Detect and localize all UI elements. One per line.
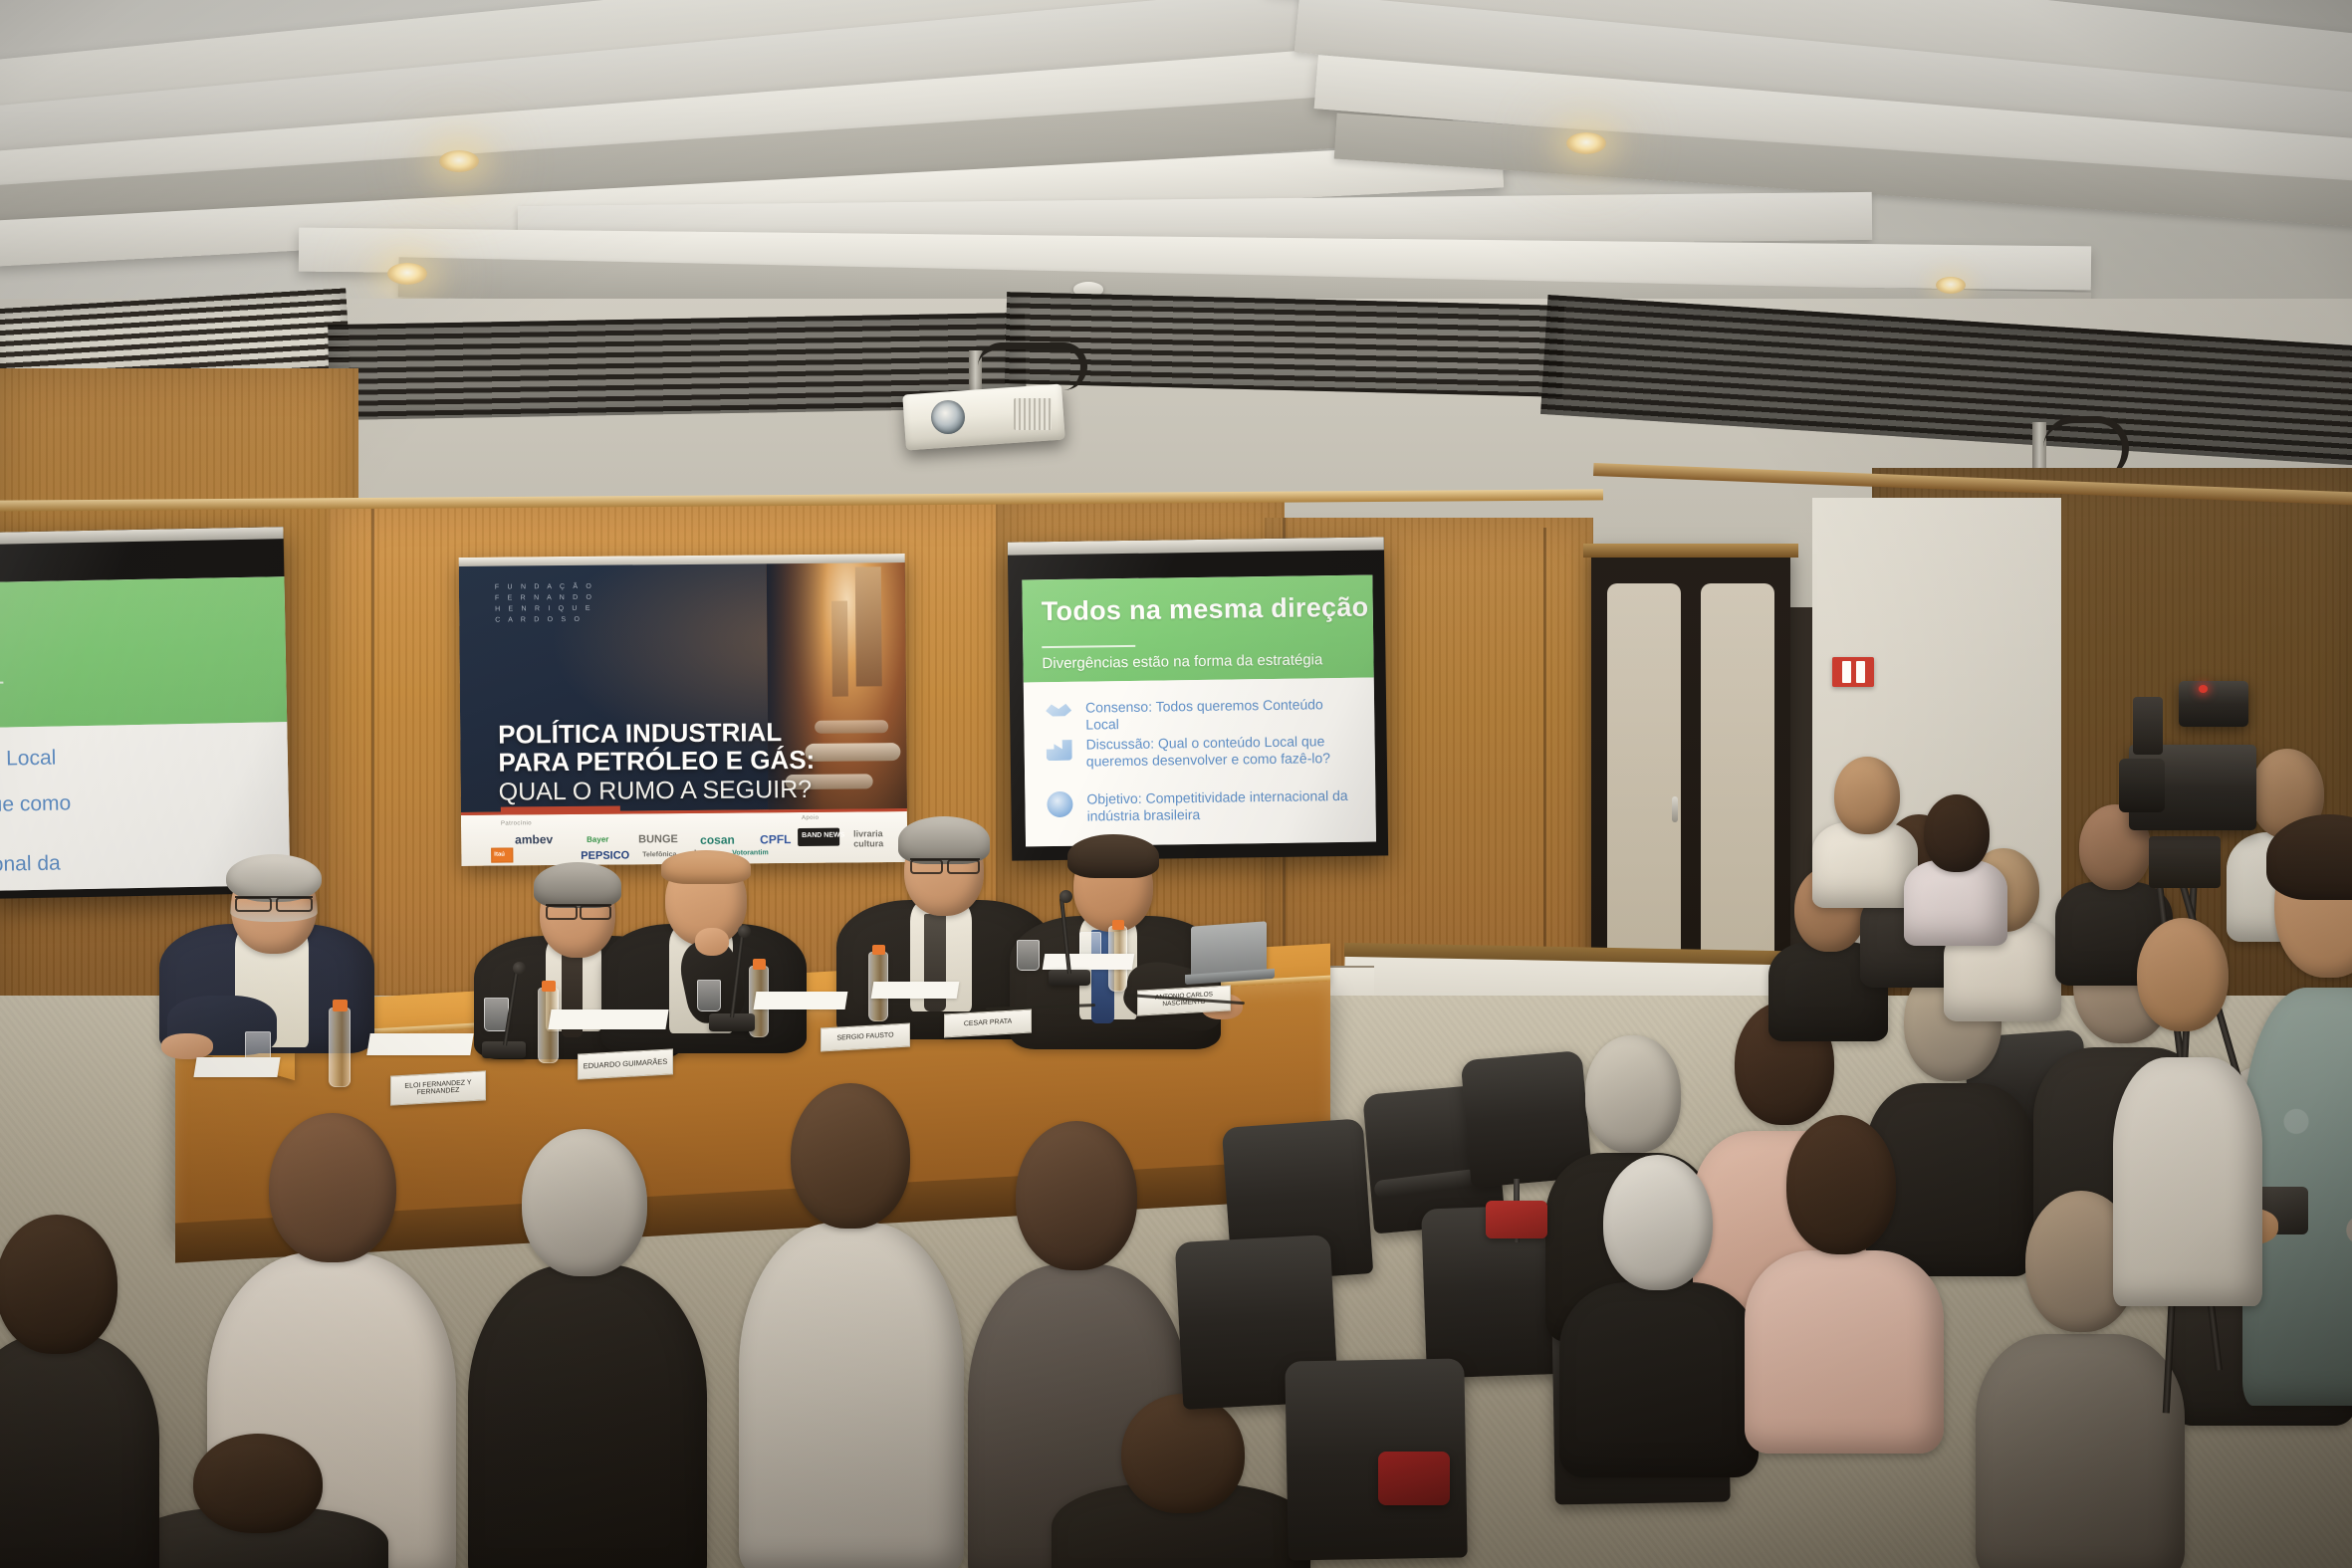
event-banner: F U N D A Ç Ã O F E R N A N D O H E N R … — [459, 554, 908, 866]
audience-member-mid-grey — [1559, 1151, 1759, 1450]
fundacao-fhc-logo: F U N D A Ç Ã O F E R N A N D O H E N R … — [495, 582, 594, 626]
paper-document[interactable] — [366, 1033, 473, 1055]
camera-tally-light — [2199, 685, 2208, 693]
logo-line: F U N D A Ç Ã O — [495, 582, 594, 594]
audience-member-back-5 — [1812, 757, 1918, 896]
refinery-tower — [831, 601, 848, 697]
slide-bullet: Consenso: Todos queremos Conteúdo Local — [1046, 696, 1360, 733]
audience-b6-top — [1904, 860, 2007, 946]
panelist-3-bald-crown — [661, 850, 751, 884]
slide-bullet-text: Discussão: Qual o conteúdo Local que que… — [1086, 733, 1361, 770]
audience-3-head — [791, 1083, 910, 1229]
slide-bullet-text: Objetivo: Competitividade internacional … — [1086, 787, 1361, 824]
slide-bullet: Objetivo: Competitividade internacional … — [1047, 787, 1361, 824]
ceiling-downlight — [387, 263, 427, 285]
panelist-4-glasses — [910, 858, 980, 870]
door-handle[interactable] — [1672, 796, 1678, 822]
exit-glyph-icon — [1856, 661, 1865, 683]
refinery-pipe — [805, 743, 900, 762]
sponsor-logo-ambev: ambev — [515, 832, 553, 846]
logo-line: F E R N A N D O — [495, 593, 594, 605]
audience-member-mid-pink — [1745, 1113, 1944, 1432]
slide-header-band: Todos na mesma direção Divergências estã… — [1022, 575, 1373, 683]
crew2-head — [2137, 918, 2229, 1031]
audience-member-foreground-3 — [739, 1077, 964, 1565]
slide-bullet-fragment: do Local que como fazê-lo? — [0, 791, 94, 844]
audience-member-foreground-5 — [1052, 1394, 1310, 1568]
audience-7-jacket — [0, 1334, 159, 1568]
bottle-cap — [542, 981, 556, 992]
door-panel-left — [1607, 583, 1681, 954]
audience-mg-jacket — [1559, 1282, 1759, 1477]
panelist-5-hair — [1067, 834, 1159, 878]
slide-bullet: Discussão: Qual o conteúdo Local que que… — [1047, 733, 1361, 770]
refinery-tower — [855, 566, 882, 686]
bottle-cap — [333, 1000, 348, 1011]
panelist-1-hair — [226, 854, 322, 902]
sponsor-label: Patrocínio — [501, 820, 532, 826]
nameplate-1: ELOI FERNANDEZ Y FERNANDEZ — [390, 1070, 486, 1105]
banner-title-line-2: PARA PETRÓLEO E GÁS: — [498, 746, 815, 778]
operator-hair — [2266, 814, 2352, 900]
panelist-1-hand — [161, 1033, 213, 1059]
microphone-head — [738, 925, 751, 938]
panelist-4-hair — [898, 816, 990, 864]
video-camera-lens — [2119, 759, 2165, 812]
camera-shotgun-mic — [2133, 697, 2163, 755]
projector-vent — [1014, 398, 1052, 430]
bottle-cap — [1112, 920, 1124, 930]
audience-member-foreground-6 — [129, 1434, 388, 1568]
slide-bullet-fragment: s Conteúdo Local — [0, 747, 57, 775]
audience-mp-blouse — [1745, 1250, 1944, 1454]
panelist-1-glasses — [235, 896, 313, 909]
audience-7-head — [0, 1215, 118, 1354]
slide-body: Consenso: Todos queremos Conteúdo Local … — [1024, 678, 1376, 847]
slide-rule — [1042, 645, 1135, 648]
microphone-head — [1059, 890, 1072, 903]
audience-3-shirt — [739, 1223, 964, 1568]
panelist-2-glasses — [546, 904, 611, 916]
paper-document[interactable] — [754, 992, 848, 1009]
door-panel-right — [1701, 583, 1774, 954]
panelist-3-hand — [695, 928, 729, 956]
conference-room-photo: ão atégia s Conteúdo Local do Local que … — [0, 0, 2352, 1568]
refinery-pipe — [815, 720, 888, 734]
projector-cable — [978, 342, 1087, 390]
crew-member-2 — [2113, 908, 2262, 1306]
logo-line: H E N R I Q U E — [495, 603, 594, 615]
audience-6-head — [193, 1434, 323, 1533]
logo-line: C A R D O S O — [495, 614, 594, 626]
paper-document[interactable] — [548, 1009, 668, 1029]
slide-subtitle: Divergências estão na forma da estratégi… — [1042, 651, 1322, 672]
slide-header-band: ão atégia — [0, 576, 289, 730]
audience-member-back-6 — [1904, 794, 2007, 934]
audience-member-foreground-2 — [468, 1125, 707, 1568]
ceiling-downlight — [1566, 132, 1606, 154]
door-header-trim — [1583, 544, 1798, 558]
double-door[interactable] — [1591, 554, 1790, 980]
audience-r6-jacket — [1976, 1334, 2185, 1568]
laptop-screen[interactable] — [1191, 921, 1267, 976]
audience-b5-shirt — [1812, 822, 1918, 908]
factory-icon — [1047, 737, 1072, 761]
audience-5-head — [1121, 1394, 1245, 1513]
paper-document[interactable] — [871, 982, 960, 999]
projector-lens — [931, 400, 965, 434]
red-handbag — [1378, 1452, 1450, 1505]
audience-4-head — [1016, 1121, 1137, 1270]
drinking-glass[interactable] — [697, 980, 721, 1011]
support-label: Apoio — [802, 815, 819, 821]
camera-top-handle — [2179, 681, 2248, 727]
red-handbag — [1486, 1201, 1547, 1238]
slide-rule — [0, 682, 3, 686]
ceiling-downlight — [1936, 277, 1966, 294]
audience-r1-head — [1585, 1035, 1681, 1153]
audience-member-foreground-7 — [0, 1215, 159, 1568]
slide-bullet-text: Consenso: Todos queremos Conteúdo Local — [1085, 696, 1360, 733]
sponsor-logo-bayer: Bayer — [587, 835, 608, 844]
nameplate-2: EDUARDO GUIMARÃES — [578, 1048, 673, 1079]
slide-main: Todos na mesma direção Divergências estã… — [1022, 575, 1376, 847]
bottle-cap — [872, 945, 885, 955]
audience-mg-hair — [1603, 1155, 1713, 1290]
audience-b5-head — [1834, 757, 1900, 834]
audience-2-jacket — [468, 1264, 707, 1568]
handshake-icon — [1046, 700, 1071, 720]
audience-mp-hair — [1786, 1115, 1896, 1254]
slide-title: Todos na mesma direção — [1042, 592, 1369, 628]
drinking-glass[interactable] — [1017, 940, 1040, 971]
ceiling-downlight — [439, 150, 479, 172]
water-bottle[interactable] — [329, 1008, 351, 1087]
paper-document[interactable] — [1043, 954, 1135, 970]
nameplate-4: CESAR PRATA — [944, 1009, 1032, 1038]
globe-icon — [1047, 791, 1072, 817]
bottle-cap — [753, 959, 766, 970]
wall-grille — [1005, 292, 1564, 397]
paper-document[interactable] — [193, 1057, 280, 1077]
projection-screen-main: Todos na mesma direção Divergências estã… — [1008, 537, 1388, 860]
audience-b6-head — [1924, 794, 1990, 872]
exit-glyph-icon — [1842, 661, 1851, 683]
crew2-shirt — [2113, 1057, 2262, 1306]
slide-bullet-fragment: e internacional da — [0, 852, 61, 880]
audience-1-head — [269, 1113, 396, 1262]
fire-equipment-sign — [1832, 657, 1874, 687]
audience-2-head — [522, 1129, 647, 1276]
microphone-head — [513, 962, 526, 975]
supporter-logo-bandnews-text: BAND NEWS — [802, 832, 844, 839]
projection-screen-left: ão atégia s Conteúdo Local do Local que … — [0, 527, 291, 899]
banner-subtitle: QUAL O RUMO A SEGUIR? — [499, 776, 813, 806]
panelist-2-hair — [534, 862, 621, 908]
nameplate-3: SERGIO FAUSTO — [821, 1022, 910, 1051]
tripod-head — [2149, 836, 2221, 888]
